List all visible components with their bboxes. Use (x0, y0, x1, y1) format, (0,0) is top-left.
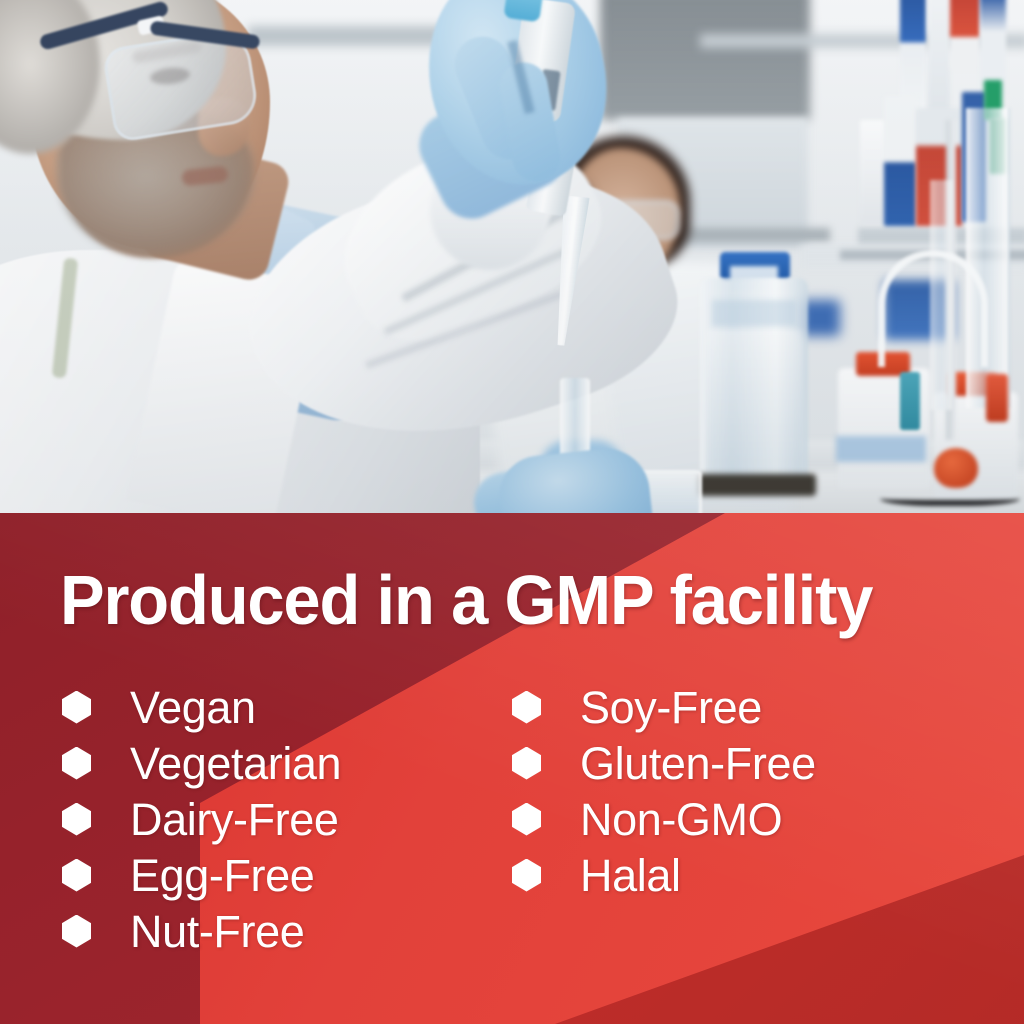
burette-clamp-teal (900, 372, 920, 430)
shelf-box-white-2 (860, 120, 886, 224)
lab-photo (0, 0, 1024, 513)
claim-label: Nut-Free (130, 909, 304, 954)
list-item: Vegan (62, 679, 341, 735)
reagent-jerrycan-label (836, 436, 926, 462)
hexagon-bullet-icon (62, 747, 91, 780)
hexagon-bullet-icon (62, 915, 91, 948)
hexagon-bullet-icon (512, 747, 541, 780)
hexagon-bullet-icon (512, 803, 541, 836)
burette-bulb-red (934, 448, 978, 488)
shelf-box-blue-3 (884, 96, 916, 226)
shelf-box-white-1 (928, 0, 950, 124)
claims-column-left: Vegan Vegetarian Dairy-Free Egg-Free (62, 679, 341, 959)
hexagon-bullet-icon (512, 859, 541, 892)
claim-label: Vegan (130, 685, 256, 730)
page-title: Produced in a GMP facility (60, 565, 872, 635)
claims-panel: Produced in a GMP facility Vegan Vegetar… (0, 513, 1024, 1024)
list-item: Dairy-Free (62, 791, 341, 847)
list-item: Soy-Free (512, 679, 816, 735)
list-item: Halal (512, 847, 816, 903)
hexagon-bullet-icon (62, 803, 91, 836)
hexagon-bullet-icon (62, 859, 91, 892)
list-item: Egg-Free (62, 847, 341, 903)
lab-cable (880, 488, 1020, 506)
burette-clamp-red (986, 374, 1008, 422)
list-item: Gluten-Free (512, 735, 816, 791)
promo-banner: Produced in a GMP facility Vegan Vegetar… (0, 0, 1024, 1024)
reagent-bottle-base (698, 474, 816, 496)
claim-label: Gluten-Free (580, 741, 816, 786)
list-item: Nut-Free (62, 903, 341, 959)
reagent-bottle-liquid (706, 330, 802, 488)
shelf-box-red-1 (950, 0, 980, 70)
claims-column-right: Soy-Free Gluten-Free Non-GMO Halal (512, 679, 816, 903)
list-item: Vegetarian (62, 735, 341, 791)
claim-label: Egg-Free (130, 853, 314, 898)
hexagon-bullet-icon (512, 691, 541, 724)
hexagon-bullet-icon (62, 691, 91, 724)
list-item: Non-GMO (512, 791, 816, 847)
claim-label: Dairy-Free (130, 797, 339, 842)
lab-tubing (878, 250, 988, 367)
claim-label: Vegetarian (130, 741, 341, 786)
reagent-bottle-label (712, 300, 796, 326)
lab-cabinet-dark (600, 0, 810, 120)
claim-label: Non-GMO (580, 797, 782, 842)
claim-label: Halal (580, 853, 681, 898)
claim-label: Soy-Free (580, 685, 762, 730)
